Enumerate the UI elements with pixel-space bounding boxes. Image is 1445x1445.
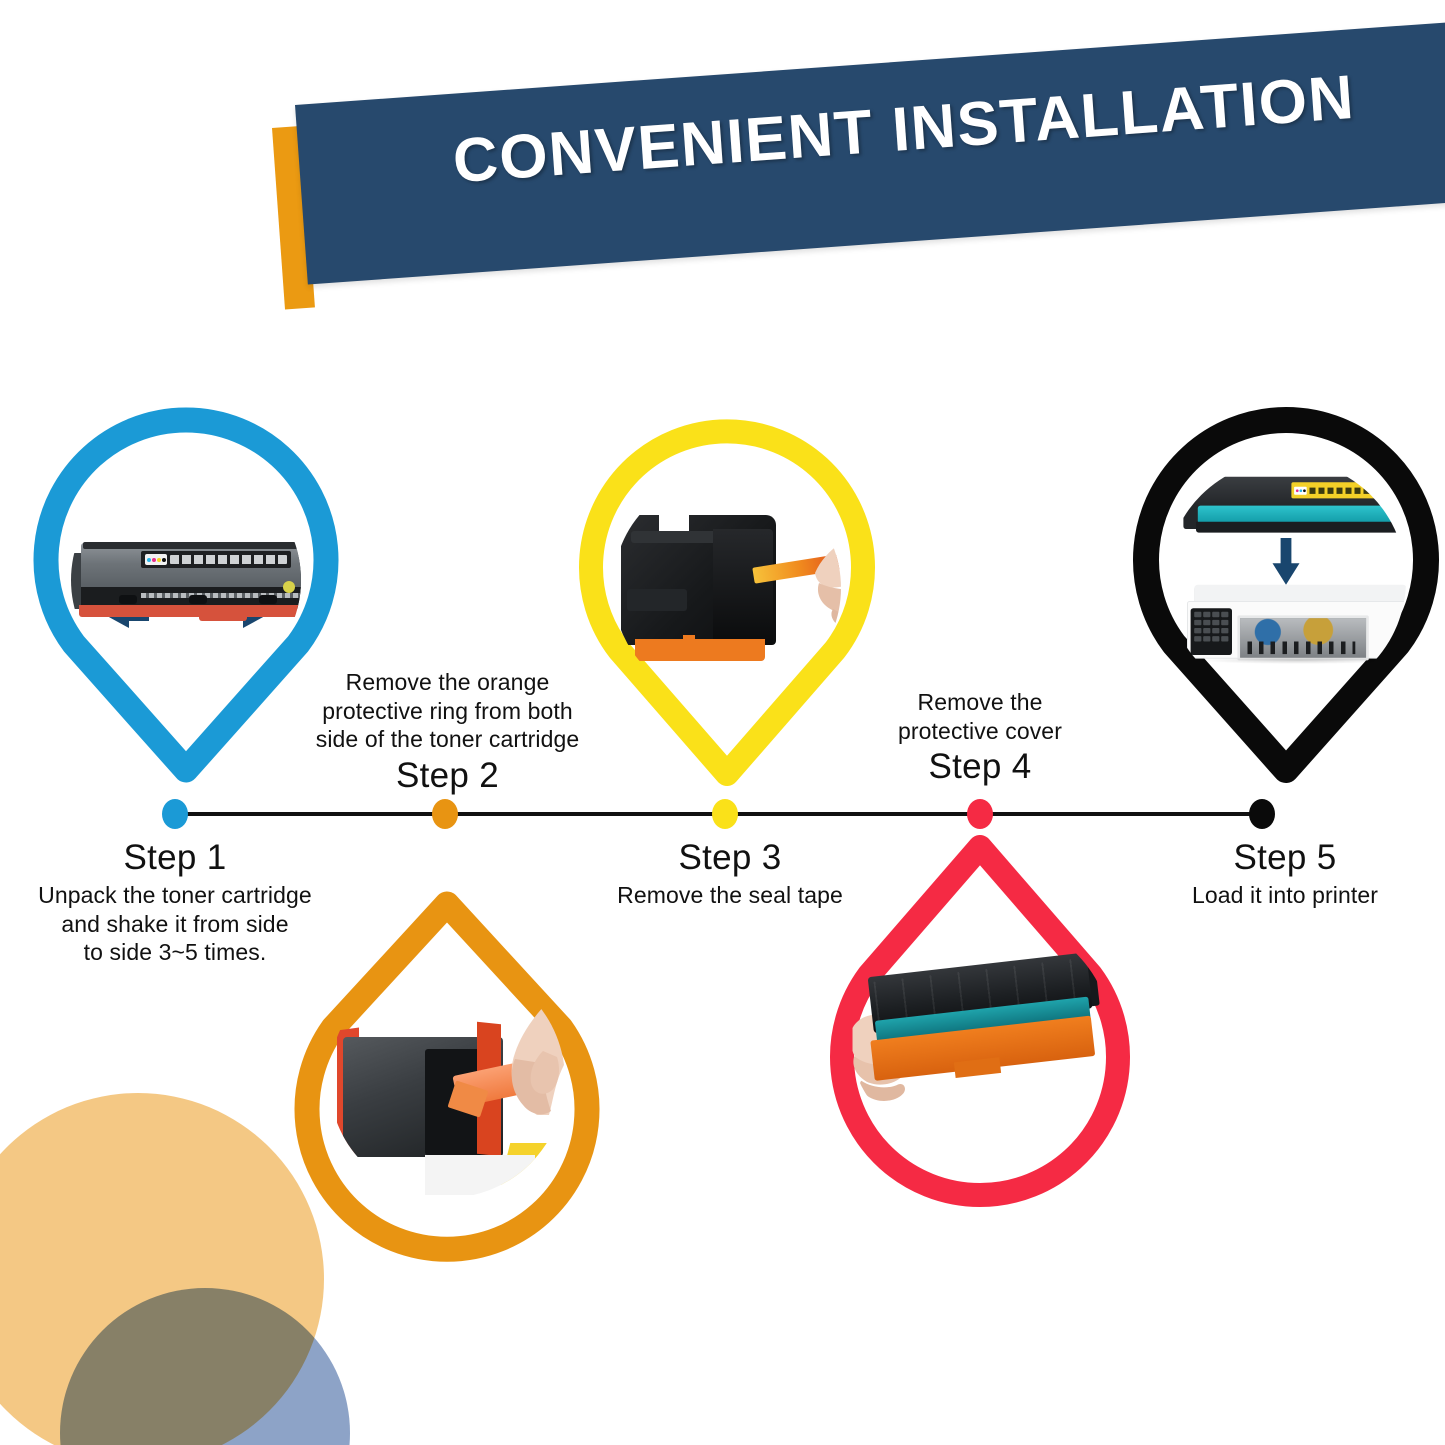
timeline-dot-step-5 [1249, 799, 1275, 829]
remove-protective-cover-icon [849, 940, 1080, 1107]
printer-control-panel [1191, 608, 1232, 655]
media-step-4 [849, 915, 1111, 1155]
step-1-title: Step 1 [30, 838, 320, 877]
step-2-description: Remove the orange protective ring from b… [300, 668, 595, 754]
remove-orange-ring-icon [329, 965, 565, 1195]
media-step-1 [71, 465, 301, 695]
step-text-2: Remove the orange protective ring from b… [300, 668, 595, 795]
timeline-dot-step-1 [162, 799, 188, 829]
step-text-5: Step 5 Load it into printer [1140, 838, 1430, 910]
step-4-description: Remove the protective cover [862, 688, 1098, 745]
toner-cartridge-icon [1183, 475, 1406, 534]
pin-step-5 [1138, 432, 1434, 772]
toner-cartridge-icon [71, 539, 301, 621]
infographic-canvas: CONVENIENT INSTALLATION [0, 0, 1445, 1445]
step-text-4: Remove the protective cover Step 4 [862, 688, 1098, 786]
timeline-dot-step-3 [712, 799, 738, 829]
pin-step-1 [38, 432, 334, 772]
timeline-dot-step-2 [432, 799, 458, 829]
timeline-dot-step-4 [967, 799, 993, 829]
hand-icon [809, 527, 841, 635]
down-arrow-icon [1271, 538, 1302, 585]
pin-step-2 [287, 900, 607, 1230]
step-text-1: Step 1 Unpack the toner cartridge and sh… [30, 838, 320, 967]
printer-icon [1182, 585, 1406, 668]
media-step-5 [1166, 460, 1406, 700]
load-into-printer-icon [1178, 475, 1394, 664]
step-4-title: Step 4 [862, 747, 1098, 786]
printer-paper-bay [1237, 615, 1368, 660]
step-2-title: Step 2 [300, 756, 595, 795]
pin-step-3 [585, 442, 869, 776]
media-step-2 [329, 962, 565, 1198]
pull-seal-tape-icon [613, 493, 841, 683]
step-5-title: Step 5 [1140, 838, 1430, 877]
media-step-3 [613, 474, 841, 702]
step-1-description: Unpack the toner cartridge and shake it … [30, 881, 320, 967]
hand-icon [479, 967, 565, 1117]
header-banner: CONVENIENT INSTALLATION [0, 0, 1445, 330]
step-5-description: Load it into printer [1140, 881, 1430, 910]
pin-step-4 [825, 843, 1135, 1183]
